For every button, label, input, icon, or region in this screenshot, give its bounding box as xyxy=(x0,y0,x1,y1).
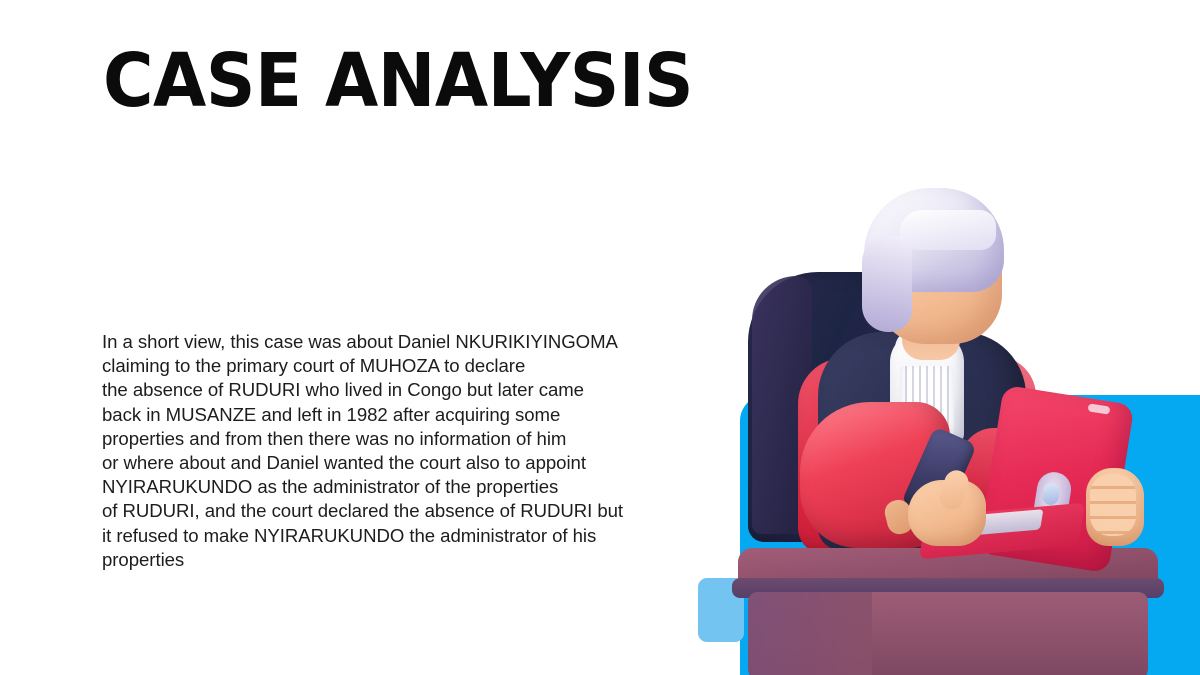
paragraph-line: of RUDURI, and the court declared the ab… xyxy=(102,499,672,523)
paragraph-line: properties xyxy=(102,548,672,572)
paragraph-line: back in MUSANZE and left in 1982 after a… xyxy=(102,403,672,427)
slide-canvas: CASE ANALYSIS In a short view, this case… xyxy=(0,0,1200,675)
paragraph-line: or where about and Daniel wanted the cou… xyxy=(102,451,672,475)
judge-illustration xyxy=(690,180,1200,675)
bench-body-shadow xyxy=(748,592,872,675)
paragraph-line: it refused to make NYIRARUKUNDO the admi… xyxy=(102,524,672,548)
judge-right-fingers xyxy=(1090,474,1136,536)
paragraph-line: the absence of RUDURI who lived in Congo… xyxy=(102,378,672,402)
case-summary-paragraph: In a short view, this case was about Dan… xyxy=(102,330,672,572)
judge-hair-sweep xyxy=(900,210,996,250)
paragraph-line: NYIRARUKUNDO as the administrator of the… xyxy=(102,475,672,499)
judge-figure xyxy=(690,180,1200,675)
paragraph-line: properties and from then there was no in… xyxy=(102,427,672,451)
judge-hair-side xyxy=(862,236,912,332)
paragraph-line: In a short view, this case was about Dan… xyxy=(102,330,672,354)
paragraph-line: claiming to the primary court of MUHOZA … xyxy=(102,354,672,378)
page-title: CASE ANALYSIS xyxy=(103,44,693,119)
